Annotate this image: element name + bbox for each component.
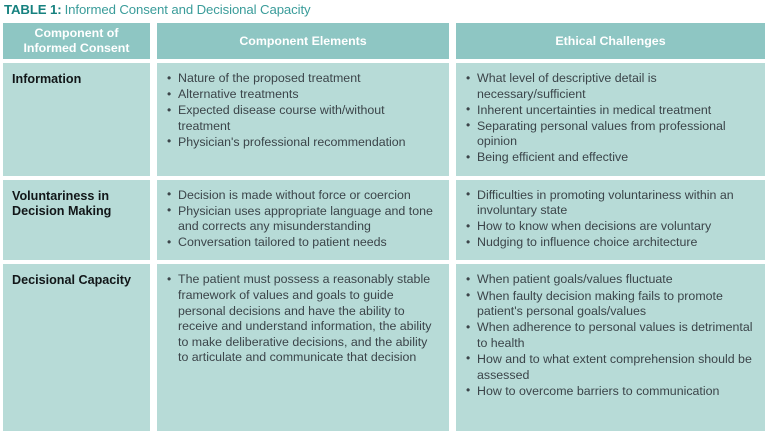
table-caption: TABLE 1:Informed Consent and Decisional … <box>4 1 311 19</box>
table-caption-title: Informed Consent and Decisional Capacity <box>65 2 311 17</box>
row-label-voluntariness-in-decision-making: Voluntariness in Decision Making <box>3 180 150 261</box>
list-item: Separating personal values from professi… <box>465 119 756 150</box>
list-item: When patient goals/values fluctuate <box>465 272 756 288</box>
table-row: Decisional Capacity The patient must pos… <box>3 264 765 431</box>
list-item: How to know when decisions are voluntary <box>465 219 756 235</box>
list-item: Nudging to influence choice architecture <box>465 235 756 251</box>
bullet-list: Nature of the proposed treatment Alterna… <box>166 71 440 150</box>
column-header-component-of-informed-consent: Component of Informed Consent <box>3 23 150 59</box>
bullet-list: When patient goals/values fluctuate When… <box>465 272 756 399</box>
row-challenges-information: What level of descriptive detail is nece… <box>456 63 765 176</box>
row-challenges-voluntariness: Difficulties in promoting voluntariness … <box>456 180 765 261</box>
list-item: Alternative treatments <box>166 87 440 103</box>
data-table: Component of Informed Consent Component … <box>3 23 765 431</box>
row-elements-information: Nature of the proposed treatment Alterna… <box>157 63 449 176</box>
row-label-information: Information <box>3 63 150 176</box>
table-figure: TABLE 1:Informed Consent and Decisional … <box>0 0 768 429</box>
column-header-ethical-challenges: Ethical Challenges <box>456 23 765 59</box>
bullet-list: Decision is made without force or coerci… <box>166 188 440 251</box>
row-label-decisional-capacity: Decisional Capacity <box>3 264 150 431</box>
list-item: The patient must possess a reasonably st… <box>166 272 440 366</box>
table-row: Voluntariness in Decision Making Decisio… <box>3 180 765 261</box>
list-item: Nature of the proposed treatment <box>166 71 440 87</box>
list-item: How and to what extent comprehension sho… <box>465 352 756 383</box>
list-item: Physician's professional recommendation <box>166 135 440 151</box>
list-item: When faulty decision making fails to pro… <box>465 289 756 320</box>
row-elements-voluntariness: Decision is made without force or coerci… <box>157 180 449 261</box>
bullet-list: What level of descriptive detail is nece… <box>465 71 756 166</box>
row-elements-decisional-capacity: The patient must possess a reasonably st… <box>157 264 449 431</box>
list-item: Conversation tailored to patient needs <box>166 235 440 251</box>
list-item: Difficulties in promoting voluntariness … <box>465 188 756 219</box>
table-caption-label: TABLE 1: <box>4 2 62 17</box>
column-header-component-elements: Component Elements <box>157 23 449 59</box>
table-row: Information Nature of the proposed treat… <box>3 63 765 176</box>
list-item: Physician uses appropriate language and … <box>166 204 440 235</box>
list-item: When adherence to personal values is det… <box>465 320 756 351</box>
table-header-row: Component of Informed Consent Component … <box>3 23 765 59</box>
list-item: Decision is made without force or coerci… <box>166 188 440 204</box>
list-item: Being efficient and effective <box>465 150 756 166</box>
column-header-line-2: Informed Consent <box>23 41 129 56</box>
list-item: Expected disease course with/without tre… <box>166 103 440 134</box>
column-header-line-1: Component of <box>23 26 129 41</box>
list-item: Inherent uncertainties in medical treatm… <box>465 103 756 119</box>
list-item: What level of descriptive detail is nece… <box>465 71 756 102</box>
row-challenges-decisional-capacity: When patient goals/values fluctuate When… <box>456 264 765 431</box>
bullet-list: Difficulties in promoting voluntariness … <box>465 188 756 251</box>
list-item: How to overcome barriers to communicatio… <box>465 384 756 400</box>
